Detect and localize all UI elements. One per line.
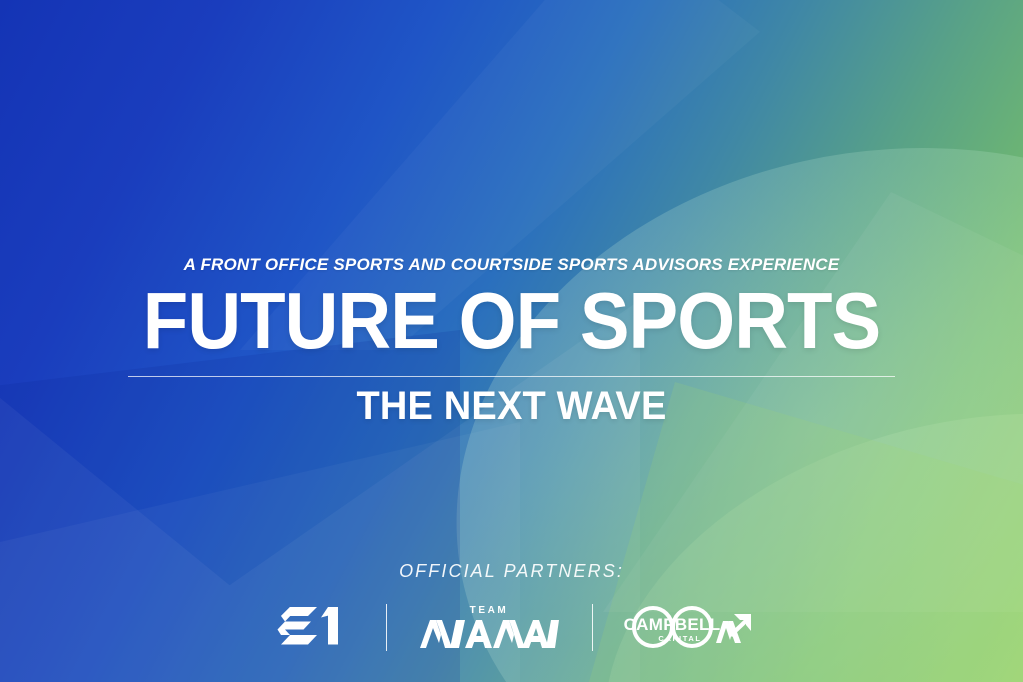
partner-logo-campbell-capital[interactable]: CAMPBELL CAPITAL [603, 603, 778, 651]
poster-content: A FRONT OFFICE SPORTS AND COURTSIDE SPOR… [0, 0, 1023, 682]
poster-canvas: A FRONT OFFICE SPORTS AND COURTSIDE SPOR… [0, 0, 1023, 682]
partner-logo-team-miami[interactable]: TEAM [397, 606, 582, 649]
e1-logo-icon [276, 605, 346, 649]
team-miami-word-team: TEAM [470, 606, 509, 616]
svg-text:CAPITAL: CAPITAL [658, 634, 701, 643]
partner-logo-row: TEAM [0, 598, 1023, 656]
event-tagline: THE NEXT WAVE [26, 386, 998, 426]
partner-divider-2 [592, 604, 593, 651]
page-title: FUTURE OF SPORTS [36, 281, 987, 361]
team-miami-logo-icon [419, 619, 559, 649]
partner-logo-e1[interactable] [246, 605, 376, 649]
official-partners-label: OFFICIAL PARTNERS: [0, 561, 1023, 582]
title-divider-rule [128, 376, 895, 377]
partner-divider-1 [386, 604, 387, 651]
svg-text:CAMPBELL: CAMPBELL [624, 615, 721, 634]
event-eyebrow: A FRONT OFFICE SPORTS AND COURTSIDE SPOR… [0, 255, 1023, 275]
campbell-capital-logo-icon: CAMPBELL CAPITAL [620, 603, 760, 651]
